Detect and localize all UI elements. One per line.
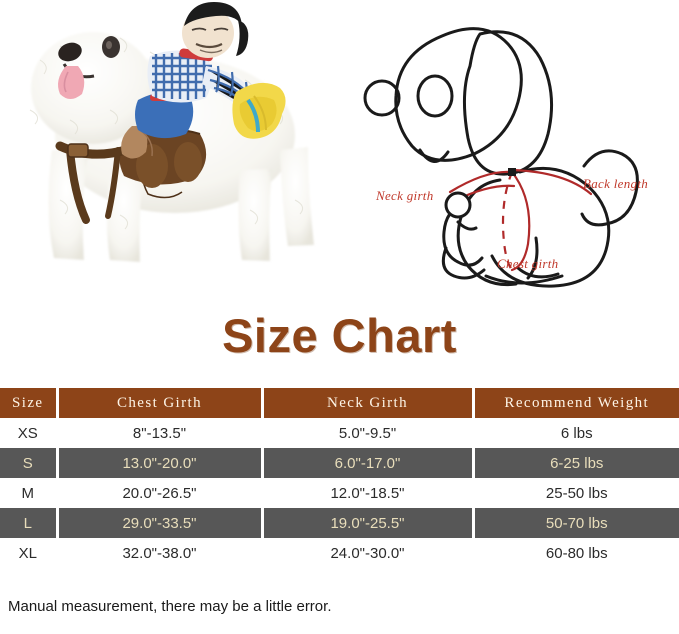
- cell-weight: 50-70 lbs: [473, 508, 679, 538]
- table-header-row: Size Chest Girth Neck Girth Recommend We…: [0, 388, 679, 418]
- table-row: M 20.0"-26.5" 12.0"-18.5" 25-50 lbs: [0, 478, 679, 508]
- table-row: L 29.0"-33.5" 19.0"-25.5" 50-70 lbs: [0, 508, 679, 538]
- label-back-length: Back length: [583, 176, 648, 192]
- cell-size: XL: [0, 538, 57, 568]
- cell-size: M: [0, 478, 57, 508]
- cell-weight: 25-50 lbs: [473, 478, 679, 508]
- cell-neck: 6.0"-17.0": [262, 448, 473, 478]
- column-header-neck: Neck Girth: [262, 388, 473, 418]
- cell-neck: 24.0"-30.0": [262, 538, 473, 568]
- table-row: XS 8"-13.5" 5.0"-9.5" 6 lbs: [0, 418, 679, 448]
- cell-chest: 29.0"-33.5": [57, 508, 262, 538]
- table-row: XL 32.0"-38.0" 24.0"-30.0" 60-80 lbs: [0, 538, 679, 568]
- size-chart-table: Size Chest Girth Neck Girth Recommend We…: [0, 388, 679, 568]
- cell-neck: 12.0"-18.5": [262, 478, 473, 508]
- collar-ring: [446, 193, 470, 217]
- label-chest-girth: Chest girth: [497, 256, 558, 272]
- table-row: S 13.0"-20.0" 6.0"-17.0" 6-25 lbs: [0, 448, 679, 478]
- top-image-panel: Neck girth Back length Chest girth: [0, 0, 679, 300]
- cell-size: S: [0, 448, 57, 478]
- product-photo: [0, 0, 340, 300]
- measure-anchor-point: [508, 168, 516, 176]
- cell-chest: 20.0"-26.5": [57, 478, 262, 508]
- disclaimer-note: Manual measurement, there may be a littl…: [8, 598, 331, 615]
- cell-neck: 5.0"-9.5": [262, 418, 473, 448]
- label-neck-girth: Neck girth: [376, 188, 434, 204]
- measurement-diagram: Neck girth Back length Chest girth: [340, 0, 679, 300]
- column-header-chest: Chest Girth: [57, 388, 262, 418]
- product-photo-illustration: [0, 0, 340, 300]
- cell-chest: 13.0"-20.0": [57, 448, 262, 478]
- cell-weight: 6 lbs: [473, 418, 679, 448]
- puppy-line-drawing: [340, 0, 679, 300]
- page-title: Size Chart: [0, 312, 679, 359]
- cell-weight: 6-25 lbs: [473, 448, 679, 478]
- cell-neck: 19.0"-25.5": [262, 508, 473, 538]
- cell-chest: 8"-13.5": [57, 418, 262, 448]
- column-header-weight: Recommend Weight: [473, 388, 679, 418]
- table-header: Size Chest Girth Neck Girth Recommend We…: [0, 388, 679, 418]
- cell-size: XS: [0, 418, 57, 448]
- cell-weight: 60-80 lbs: [473, 538, 679, 568]
- column-header-size: Size: [0, 388, 57, 418]
- table-body: XS 8"-13.5" 5.0"-9.5" 6 lbs S 13.0"-20.0…: [0, 418, 679, 568]
- cell-size: L: [0, 508, 57, 538]
- cell-chest: 32.0"-38.0": [57, 538, 262, 568]
